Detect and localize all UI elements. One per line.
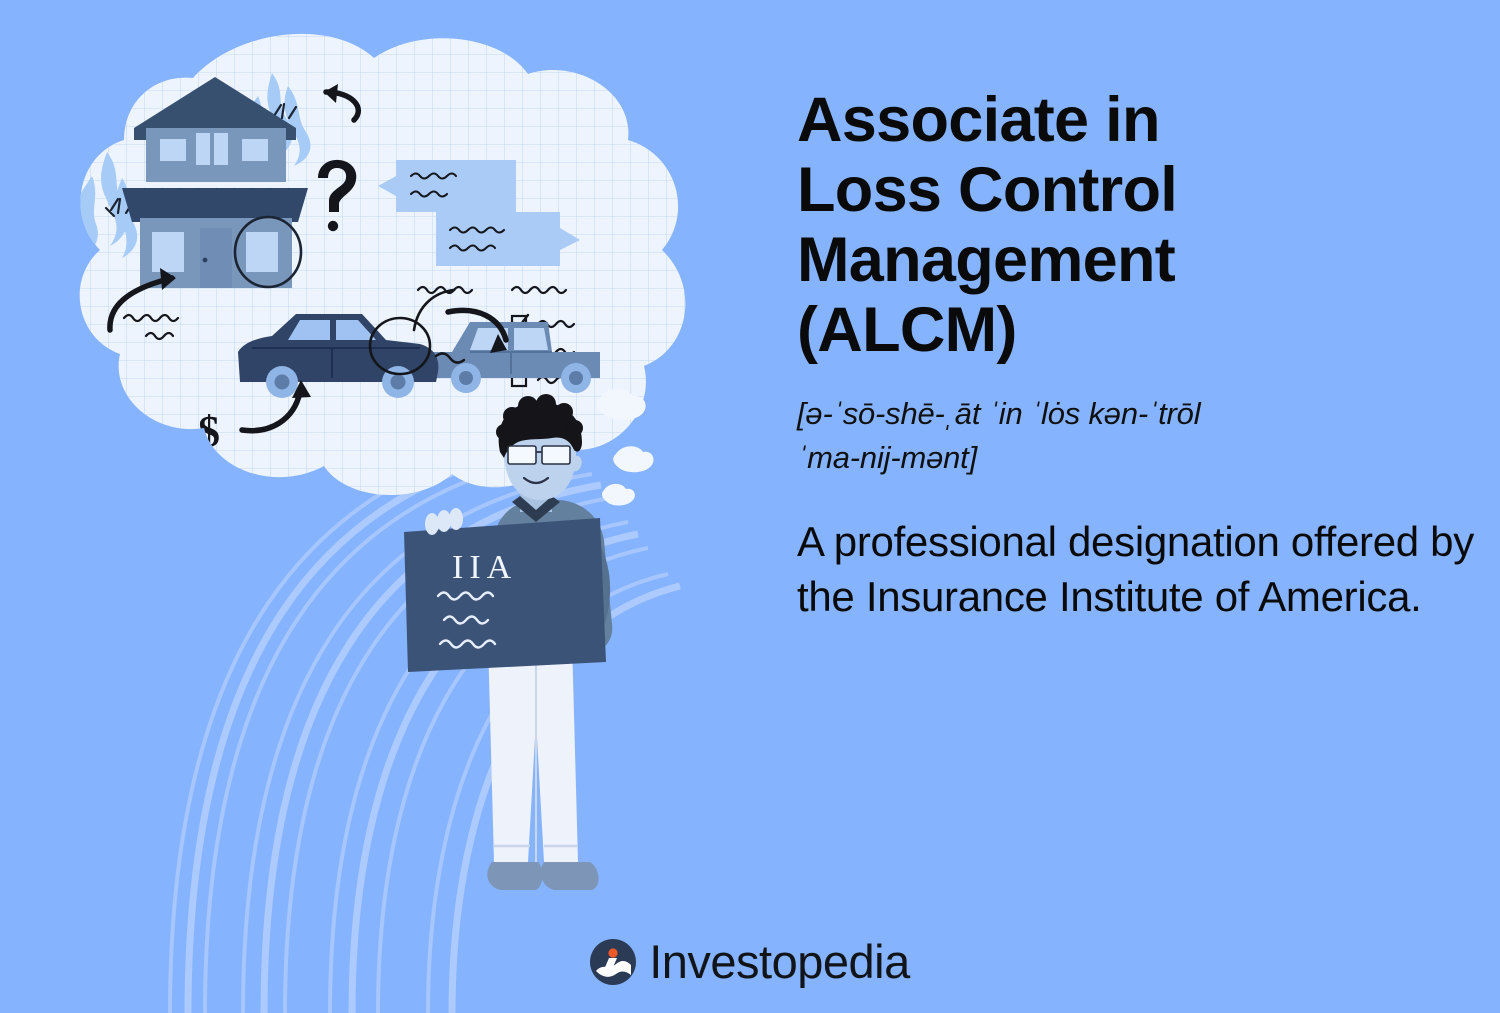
- investopedia-wordmark: Investopedia: [649, 938, 910, 985]
- term-text-column: Associate in Loss Control Management (AL…: [797, 86, 1477, 624]
- svg-text:$: $: [198, 407, 220, 456]
- definition-text: A professional designation offered by th…: [797, 514, 1477, 624]
- dollar-sign-icon: $: [198, 407, 220, 456]
- dictionary-term-card: $: [0, 0, 1500, 1013]
- iia-board: IIA: [404, 518, 606, 672]
- speech-bubble-1: [378, 160, 516, 212]
- speech-bubble-2: [436, 212, 580, 266]
- pronunciation-text: [ə-ˈsō-shē-ˌāt ˈin ˈlȯs kən-ˈtrōl ˈma-ni…: [797, 392, 1477, 480]
- investopedia-logo[interactable]: Investopedia: [0, 938, 1500, 985]
- thought-cloud: $: [60, 18, 710, 518]
- board-label: IIA: [452, 549, 517, 586]
- investopedia-logo-icon: [590, 939, 636, 985]
- concept-illustration: $: [0, 0, 760, 940]
- page-title: Associate in Loss Control Management (AL…: [797, 86, 1477, 366]
- thought-puffs: [597, 389, 653, 506]
